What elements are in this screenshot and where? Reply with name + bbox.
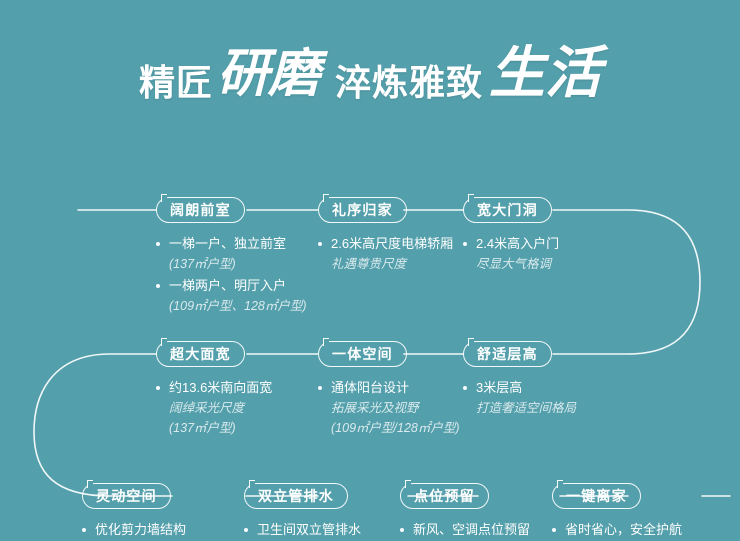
node-label-text: 阔朗前室 xyxy=(170,201,231,219)
list-item: 优化剪力墙结构 实现空间多变 xyxy=(82,520,186,541)
node-bullet-list: 3米层高 打造奢适空间格局 xyxy=(463,378,576,418)
node-label-tag[interactable]: 舒适层高 xyxy=(463,341,552,367)
bullet-main-text: 2.4米高入户门 xyxy=(476,234,559,254)
node-bullet-list: 约13.6米南向面宽 阔绰采光尺度 (137㎡户型) xyxy=(156,378,272,438)
bullet-main-text: 通体阳台设计 xyxy=(331,378,460,398)
node-label-tag[interactable]: 灵动空间 xyxy=(82,483,171,509)
list-item: 3米层高 打造奢适空间格局 xyxy=(463,378,576,418)
node-label-tag[interactable]: 双立管排水 xyxy=(244,483,348,509)
list-item: 省时省心，安全护航 xyxy=(552,520,682,540)
bullet-main-text: 一梯两户、明厅入户 xyxy=(169,276,307,296)
bullet-main-text: 约13.6米南向面宽 xyxy=(169,378,272,398)
bullet-sub-text: 礼遇尊贵尺度 xyxy=(331,254,453,274)
bullet-dot-icon xyxy=(156,284,160,288)
list-item: 约13.6米南向面宽 阔绰采光尺度 (137㎡户型) xyxy=(156,378,272,438)
node-row3-col2[interactable]: 双立管排水 卫生间双立管排水 有效防止异味 xyxy=(244,483,361,541)
node-bullet-list: 优化剪力墙结构 实现空间多变 xyxy=(82,520,186,541)
node-row2-col2[interactable]: 一体空间 通体阳台设计 拓展采光及视野 (109㎡户型/128㎡户型) xyxy=(318,341,460,454)
node-row2-col1[interactable]: 超大面宽 约13.6米南向面宽 阔绰采光尺度 (137㎡户型) xyxy=(156,341,272,454)
list-item: 卫生间双立管排水 有效防止异味 xyxy=(244,520,361,541)
node-label-text: 点位预留 xyxy=(414,487,475,505)
node-label-text: 灵动空间 xyxy=(96,487,157,505)
node-row1-col2[interactable]: 礼序归家 2.6米高尺度电梯轿厢 礼遇尊贵尺度 xyxy=(318,197,453,290)
node-label-text: 礼序归家 xyxy=(332,201,393,219)
headline-part-4: 生活 xyxy=(489,45,601,101)
node-label-tag[interactable]: 一键离家 xyxy=(552,483,641,509)
node-label-text: 舒适层高 xyxy=(477,345,538,363)
bullet-main-text: 卫生间双立管排水 xyxy=(257,520,361,540)
headline-part-2: 研磨 xyxy=(217,48,319,100)
bullet-sub-text: 阔绰采光尺度 xyxy=(169,398,272,418)
node-label-tag[interactable]: 阔朗前室 xyxy=(156,197,245,223)
node-bullet-list: 省时省心，安全护航 xyxy=(552,520,682,540)
node-bullet-list: 2.4米高入户门 尽显大气格调 xyxy=(463,234,559,274)
bullet-sub-text-2: (137㎡户型) xyxy=(169,418,272,438)
node-row3-col3[interactable]: 点位预留 新风、空调点位预留 便于后期装修 xyxy=(400,483,530,541)
bullet-sub-text: (109㎡户型、128㎡户型) xyxy=(169,296,307,316)
bullet-dot-icon xyxy=(318,386,322,390)
node-bullet-list: 通体阳台设计 拓展采光及视野 (109㎡户型/128㎡户型) xyxy=(318,378,460,438)
node-label-tag[interactable]: 宽大门洞 xyxy=(463,197,552,223)
node-label-tag[interactable]: 超大面宽 xyxy=(156,341,245,367)
bullet-dot-icon xyxy=(400,528,404,532)
list-item: 新风、空调点位预留 便于后期装修 xyxy=(400,520,530,541)
bullet-dot-icon xyxy=(552,528,556,532)
bullet-sub-text: 打造奢适空间格局 xyxy=(476,398,576,418)
node-bullet-list: 新风、空调点位预留 便于后期装修 xyxy=(400,520,530,541)
bullet-main-text: 一梯一户、独立前室 xyxy=(169,234,307,254)
list-item: 2.6米高尺度电梯轿厢 礼遇尊贵尺度 xyxy=(318,234,453,274)
bullet-dot-icon xyxy=(156,242,160,246)
list-item: 通体阳台设计 拓展采光及视野 (109㎡户型/128㎡户型) xyxy=(318,378,460,438)
node-label-text: 一体空间 xyxy=(332,345,393,363)
bullet-dot-icon xyxy=(318,242,322,246)
bullet-main-text: 3米层高 xyxy=(476,378,576,398)
connector-uturn-right xyxy=(553,210,700,354)
bullet-dot-icon xyxy=(244,528,248,532)
bullet-sub-text: (137㎡户型) xyxy=(169,254,307,274)
headline-part-1: 精匠 xyxy=(139,65,213,101)
bullet-main-text: 新风、空调点位预留 xyxy=(413,520,530,540)
list-item: 一梯一户、独立前室 (137㎡户型) xyxy=(156,234,307,274)
list-item: 一梯两户、明厅入户 (109㎡户型、128㎡户型) xyxy=(156,276,307,316)
page-title: 精匠研磨淬炼雅致生活 xyxy=(0,42,740,98)
bullet-sub-text: 拓展采光及视野 xyxy=(331,398,460,418)
bullet-dot-icon xyxy=(156,386,160,390)
bullet-dot-icon xyxy=(82,528,86,532)
connector-uturn-left xyxy=(34,354,172,496)
bullet-dot-icon xyxy=(463,386,467,390)
bullet-sub-text-2: (109㎡户型/128㎡户型) xyxy=(331,418,460,438)
node-row3-col4[interactable]: 一键离家 省时省心，安全护航 xyxy=(552,483,682,541)
node-label-tag[interactable]: 点位预留 xyxy=(400,483,489,509)
bullet-main-text: 优化剪力墙结构 xyxy=(95,520,186,540)
node-label-text: 宽大门洞 xyxy=(477,201,538,219)
node-label-tag[interactable]: 礼序归家 xyxy=(318,197,407,223)
node-row3-col1[interactable]: 灵动空间 优化剪力墙结构 实现空间多变 xyxy=(82,483,186,541)
node-label-tag[interactable]: 一体空间 xyxy=(318,341,407,367)
node-bullet-list: 卫生间双立管排水 有效防止异味 xyxy=(244,520,361,541)
headline-part-3: 淬炼雅致 xyxy=(335,65,483,101)
node-row1-col3[interactable]: 宽大门洞 2.4米高入户门 尽显大气格调 xyxy=(463,197,559,290)
node-label-text: 超大面宽 xyxy=(170,345,231,363)
node-label-text: 一键离家 xyxy=(566,487,627,505)
bullet-main-text: 2.6米高尺度电梯轿厢 xyxy=(331,234,453,254)
bullet-sub-text: 尽显大气格调 xyxy=(476,254,559,274)
node-bullet-list: 一梯一户、独立前室 (137㎡户型) 一梯两户、明厅入户 (109㎡户型、128… xyxy=(156,234,307,316)
bullet-main-text: 省时省心，安全护航 xyxy=(565,520,682,540)
node-label-text: 双立管排水 xyxy=(258,487,334,505)
bullet-dot-icon xyxy=(463,242,467,246)
node-bullet-list: 2.6米高尺度电梯轿厢 礼遇尊贵尺度 xyxy=(318,234,453,274)
node-row2-col3[interactable]: 舒适层高 3米层高 打造奢适空间格局 xyxy=(463,341,576,434)
poster-canvas: 精匠研磨淬炼雅致生活 阔朗前室 xyxy=(0,0,740,541)
list-item: 2.4米高入户门 尽显大气格调 xyxy=(463,234,559,274)
node-row1-col1[interactable]: 阔朗前室 一梯一户、独立前室 (137㎡户型) 一梯两户、明厅入户 (109㎡户… xyxy=(156,197,307,332)
